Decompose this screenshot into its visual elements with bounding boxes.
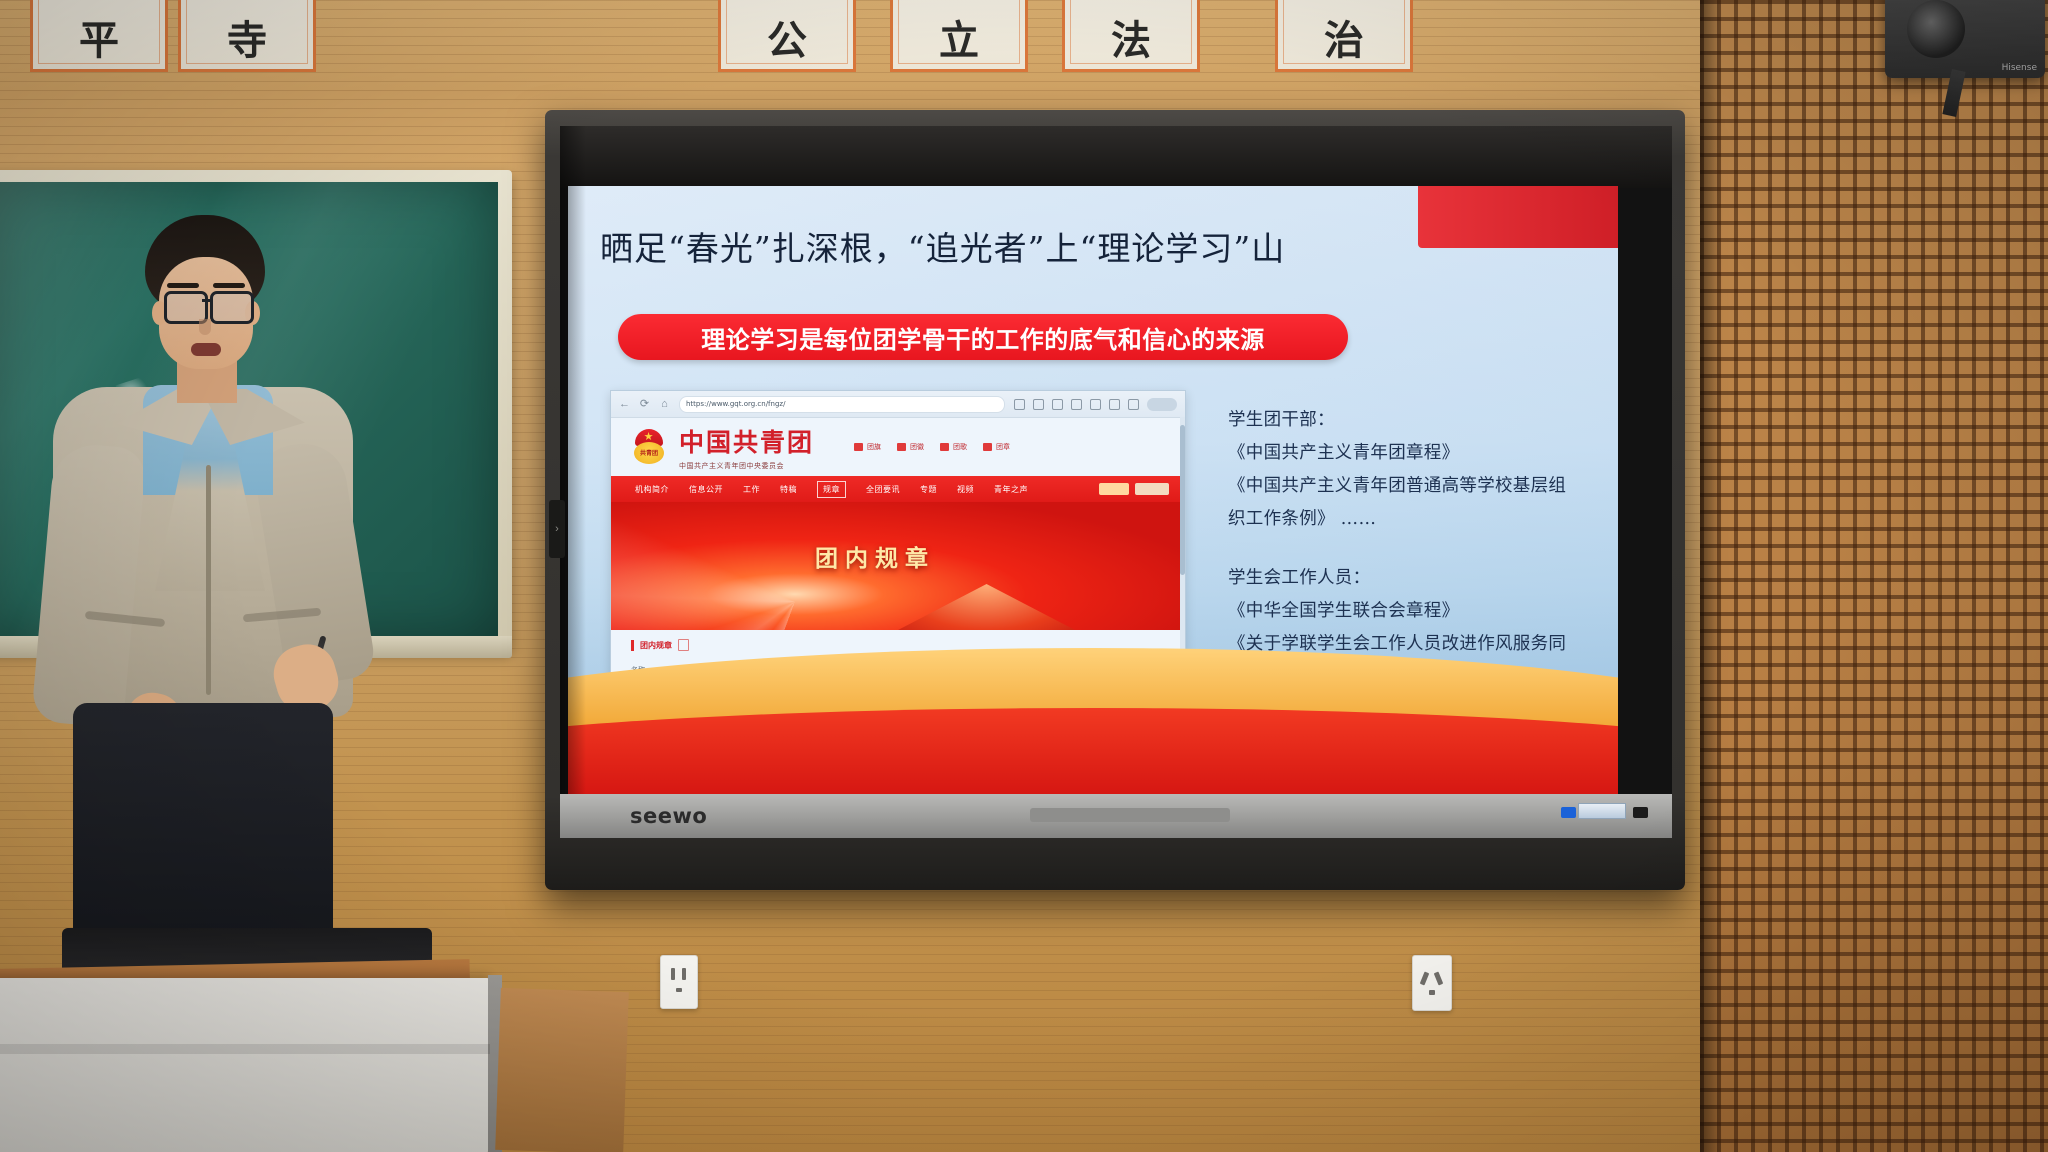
wall-plaque: 立 [890,0,1028,72]
browser-chrome: ← ⟳ ⌂ https://www.gqt.org.cn/fngz/ [611,391,1185,418]
presentation-slide: 晒足“春光”扎深根，“追光者”上“理论学习”山 理论学习是每位团学骨干的工作的底… [568,186,1618,794]
quick-link-label: 团徽 [910,442,924,452]
favorites-icon[interactable] [1090,399,1101,410]
slide-bottom-decoration [568,604,1618,794]
cyl-emblem-icon: ★ 共青团 [633,429,665,465]
slide-red-banner: 理论学习是每位团学骨干的工作的底气和信心的来源 [618,314,1348,360]
speaker-cone [1907,0,1965,58]
scrollbar-thumb[interactable] [1180,425,1185,575]
brandmark-left-icon [1099,483,1129,495]
emblem-disc-text: 共青团 [634,448,664,457]
presenter-zipper [206,465,211,695]
site-header: ★ 共青团 中国共青团 中国共产主义青年团中央委员会 团旗 团徽 团歌 团章 [611,418,1185,476]
quick-link-label: 团章 [996,442,1010,452]
hero-title: 团内规章 [815,539,935,573]
text-line: 织工作条例》 …… [1228,503,1598,536]
brandmark-right-icon [1135,483,1169,495]
site-quick-links: 团旗 团徽 团歌 团章 [854,442,1010,452]
settings-icon[interactable] [1128,399,1139,410]
extensions-icon[interactable] [1109,399,1120,410]
panel-side-button[interactable]: › [549,500,565,558]
podium-edge-shadow [0,1044,490,1054]
panel-top-bezel [560,126,1672,188]
presenter-mouth [191,343,221,356]
plaque-char: 立 [939,21,979,69]
badge-icon [897,443,906,451]
classroom-photo-scene: 平 寺 公 立 法 治 Hisense 晒足“春光”扎深根，“追光者”上“理论学… [0,0,2048,1152]
shield-icon[interactable] [1052,399,1063,410]
site-name-block: 中国共青团 中国共产主义青年团中央委员会 [679,423,814,471]
back-arrow-icon[interactable]: ← [619,399,630,410]
star-icon[interactable] [1033,399,1044,410]
browser-url-field[interactable]: https://www.gqt.org.cn/fngz/ [679,396,1005,413]
quick-link[interactable]: 团旗 [854,442,881,452]
emblem-disc: 共青团 [634,442,664,464]
quick-link[interactable]: 团歌 [940,442,967,452]
nav-item[interactable]: 信息公开 [689,484,723,495]
site-name: 中国共青团 [679,423,814,459]
music-note-icon [940,443,949,451]
lock-icon: ⌂ [659,399,670,410]
slide-corner-accent [1418,186,1618,248]
wall-socket[interactable] [660,955,698,1009]
nav-item[interactable]: 青年之声 [994,484,1028,495]
panel-screen[interactable]: 晒足“春光”扎深根，“追光者”上“理论学习”山 理论学习是每位团学骨干的工作的底… [568,186,1618,794]
text-heading: 学生会工作人员： [1228,562,1598,595]
book-icon [983,443,992,451]
collections-icon[interactable] [1071,399,1082,410]
panel-port-cluster [1561,807,1648,818]
text-line: 《中国共产主义青年团章程》 [1228,437,1598,470]
seewo-brand-logo: seewo [630,804,707,828]
wall-socket[interactable] [1412,955,1452,1011]
plaque-char: 平 [79,21,119,69]
nav-item[interactable]: 机构简介 [635,484,669,495]
plaque-char: 法 [1111,21,1151,69]
slide-banner-text: 理论学习是每位团学骨干的工作的底气和信心的来源 [701,320,1265,355]
panel-spec-label [1578,803,1626,819]
glasses-lens-right [210,291,254,324]
speaker-brand-label: Hisense [2002,63,2037,73]
presenter-eyebrow-right [213,283,245,288]
ceiling-speaker: Hisense [1885,0,2045,78]
navbar-brandmark [1099,483,1169,495]
reload-icon[interactable]: ⟳ [639,399,650,410]
quick-link-label: 团旗 [867,442,881,452]
pen-icon[interactable] [1014,399,1025,410]
usb-port-icon[interactable] [1561,807,1576,818]
wall-plaque: 公 [718,0,856,72]
wall-seam-shadow [1700,0,1722,1152]
nav-item-active[interactable]: 规章 [817,481,846,498]
panel-left-shadow [560,126,586,838]
perforated-acoustic-wall [1700,0,2048,1152]
plaque-char: 公 [767,21,807,69]
red-wave [568,708,1618,794]
site-subtitle: 中国共产主义青年团中央委员会 [679,461,814,471]
quick-link-label: 团歌 [953,442,967,452]
plaque-char: 治 [1324,21,1364,69]
presenter [25,215,385,935]
quick-link[interactable]: 团章 [983,442,1010,452]
nav-item[interactable]: 特稿 [780,484,797,495]
wall-plaque: 法 [1062,0,1200,72]
text-heading: 学生团干部： [1228,404,1598,437]
presenter-trousers [73,703,333,953]
nav-item[interactable]: 专题 [920,484,937,495]
slide-title: 晒足“春光”扎深根，“追光者”上“理论学习”山 [600,222,1285,270]
podium-side-wood [495,988,629,1152]
text-block-gap [1228,536,1598,562]
glasses-bridge [202,299,210,302]
nav-item[interactable]: 工作 [743,484,760,495]
text-line: 《中国共产主义青年团普通高等学校基层组 [1228,470,1598,503]
browser-toolbar [1014,398,1177,411]
presenter-nose [199,319,211,335]
flag-icon [854,443,863,451]
wall-plaque: 平 [30,0,168,72]
plaque-char: 寺 [227,21,267,69]
panel-vent [1030,808,1230,822]
quick-link[interactable]: 团徽 [897,442,924,452]
profile-chip[interactable] [1147,398,1177,411]
nav-item[interactable]: 全团要讯 [866,484,900,495]
aux-port-icon[interactable] [1633,807,1648,818]
nav-item[interactable]: 视频 [957,484,974,495]
site-navbar: 机构简介 信息公开 工作 特稿 规章 全团要讯 专题 视频 青年之声 [611,476,1185,502]
wall-plaque: 寺 [178,0,316,72]
panel-bottom-chin: seewo [560,794,1672,838]
presenter-eyebrow-left [167,283,199,288]
wall-plaque: 治 [1275,0,1413,72]
podium-front-panel [0,978,490,1152]
